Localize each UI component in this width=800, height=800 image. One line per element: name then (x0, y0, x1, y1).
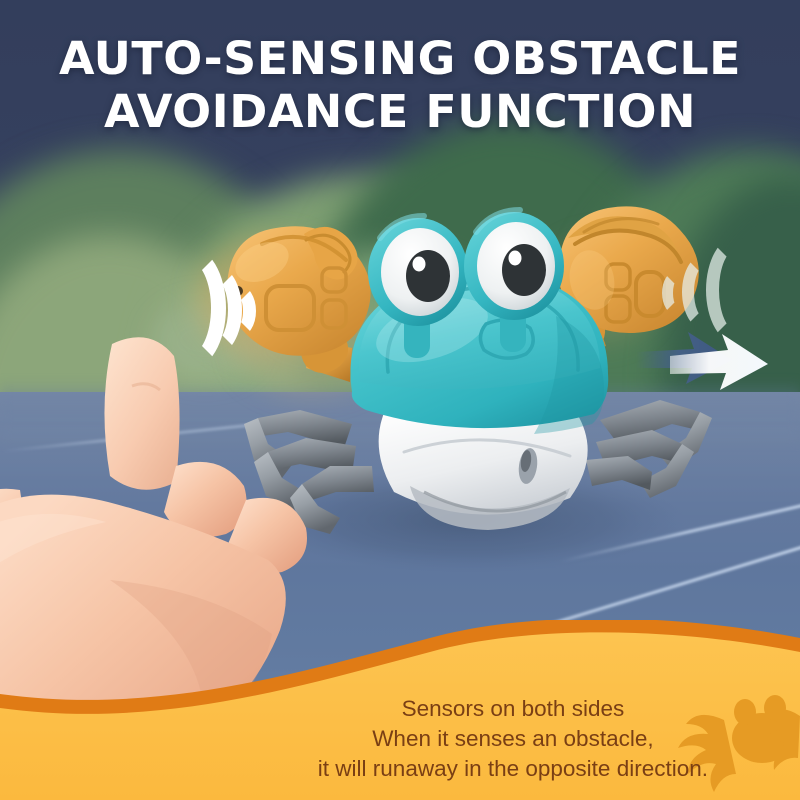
sonar-arc (662, 271, 690, 315)
callout-text: Sensors on both sides When it senses an … (318, 694, 708, 784)
callout-line-1: Sensors on both sides (318, 694, 708, 724)
headline-line-2: AVOIDANCE FUNCTION (0, 85, 800, 138)
product-marketing-image: AUTO-SENSING OBSTACLE AVOIDANCE FUNCTION (0, 0, 800, 800)
callout-line-3: it will runaway in the opposite directio… (318, 754, 708, 784)
hand-index-finger (104, 337, 179, 489)
arrow-right-icon (636, 328, 776, 398)
callout-line-2: When it senses an obstacle, (318, 724, 708, 754)
headline-title: AUTO-SENSING OBSTACLE AVOIDANCE FUNCTION (0, 32, 800, 138)
arrow-highlight (670, 334, 768, 390)
headline-line-1: AUTO-SENSING OBSTACLE (0, 32, 800, 85)
